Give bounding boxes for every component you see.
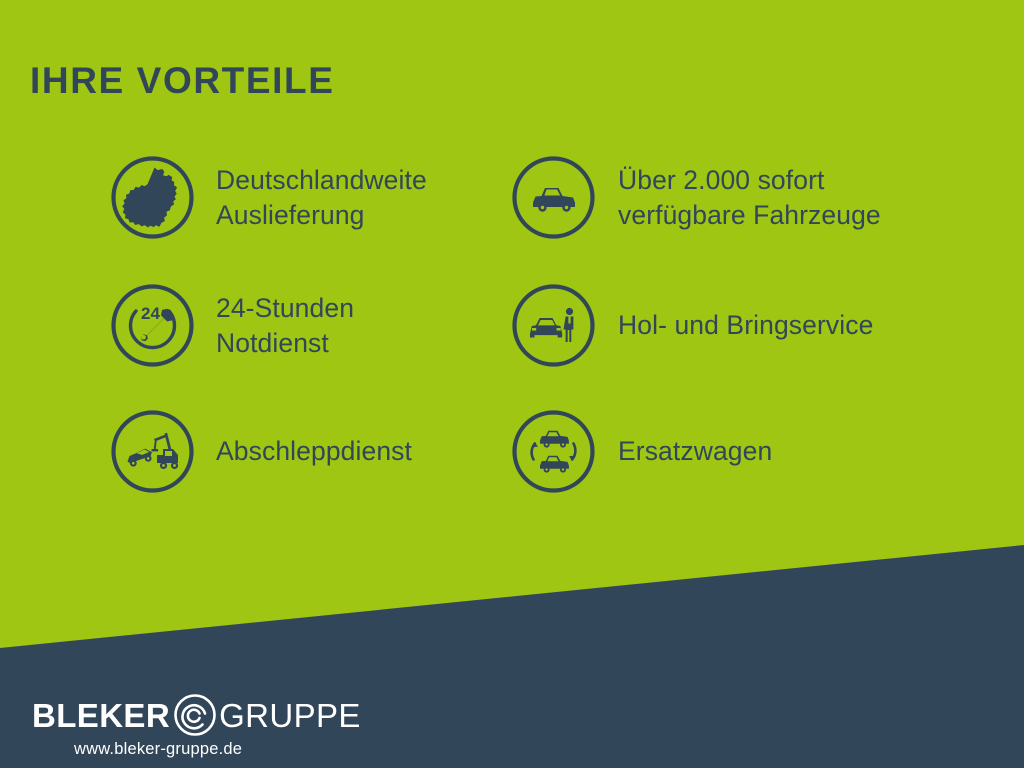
spiral-icon [172,692,218,738]
logo-secondary-text: GRUPPE [219,699,361,732]
benefit-label: Abschleppdienst [216,434,412,469]
website-url[interactable]: www.bleker-gruppe.de [74,740,332,759]
benefit-label: Deutschlandweite Auslieferung [216,163,427,233]
benefit-item-hol-und-bringservice[interactable]: Hol- und Bringservice [511,283,873,368]
car-with-person-icon [511,283,596,368]
benefit-item-abschleppdienst[interactable]: Abschleppdienst [110,409,412,494]
brand-logo[interactable]: BLEKER GRUPPE www.bleker-gruppe.de [32,694,332,764]
germany-map-icon [110,155,195,240]
benefit-item-verfuegbare-fahrzeuge[interactable]: Über 2.000 sofort verfügbare Fahrzeuge [511,155,881,240]
benefit-item-24-stunden-notdienst[interactable]: 24 24-Stunden Notdienst [110,283,354,368]
benefit-label: 24-Stunden Notdienst [216,291,354,361]
benefit-label: Hol- und Bringservice [618,308,873,343]
benefit-item-deutschlandweite-auslieferung[interactable]: Deutschlandweite Auslieferung [110,155,427,240]
tow-truck-icon [110,409,195,494]
benefit-label: Ersatzwagen [618,434,772,469]
logo-primary-text: BLEKER [32,699,170,732]
benefit-item-ersatzwagen[interactable]: Ersatzwagen [511,409,772,494]
svg-text:24: 24 [141,304,160,323]
page-title: IHRE VORTEILE [30,62,335,99]
24-hour-wrench-icon: 24 [110,283,195,368]
car-icon [511,155,596,240]
benefit-label: Über 2.000 sofort verfügbare Fahrzeuge [618,163,881,233]
logo-wordmark-row: BLEKER GRUPPE [32,694,332,736]
slide-canvas: IHRE VORTEILE Deutschlandweite Ausliefer… [0,0,1024,768]
car-exchange-icon [511,409,596,494]
